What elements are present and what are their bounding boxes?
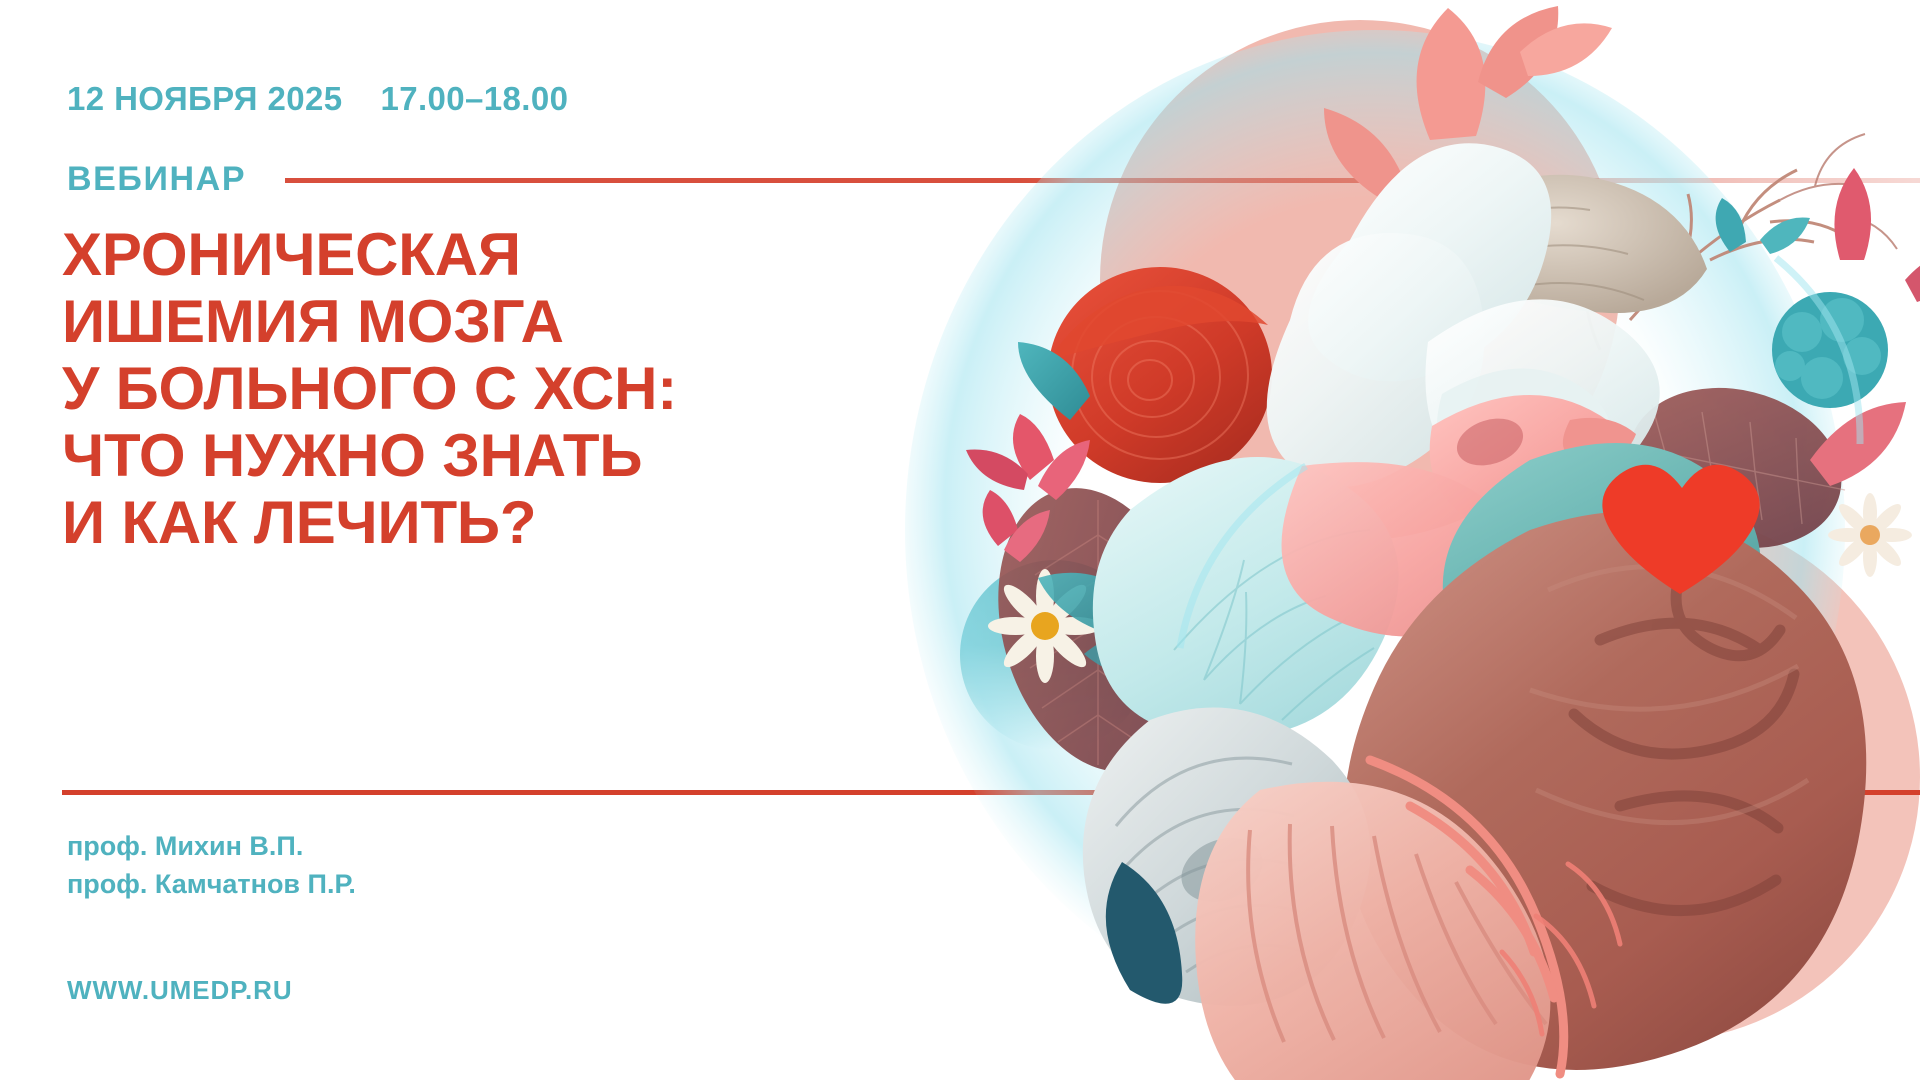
webinar-poster: 12 НОЯБРЯ 2025 17.00–18.00 ВЕБИНАР ХРОНИ… <box>0 0 1920 1080</box>
website-url[interactable]: WWW.UMEDP.RU <box>67 975 293 1006</box>
headline-line-5: И КАК ЛЕЧИТЬ? <box>62 490 677 557</box>
headline-line-3: У БОЛЬНОГО С ХСН: <box>62 356 677 423</box>
event-time: 17.00–18.00 <box>380 80 568 118</box>
headline-line-2: ИШЕМИЯ МОЗГА <box>62 289 677 356</box>
poster-text-content: 12 НОЯБРЯ 2025 17.00–18.00 ВЕБИНАР ХРОНИ… <box>62 0 922 1080</box>
event-type-kicker: ВЕБИНАР <box>67 160 246 199</box>
event-datetime: 12 НОЯБРЯ 2025 17.00–18.00 <box>67 80 568 118</box>
heart-brain-floral-illustration <box>830 0 1920 1080</box>
speaker-2: проф. Камчатнов П.Р. <box>67 865 356 903</box>
event-date: 12 НОЯБРЯ 2025 <box>67 80 342 118</box>
speaker-1: проф. Михин В.П. <box>67 827 356 865</box>
speaker-list: проф. Михин В.П. проф. Камчатнов П.Р. <box>67 827 356 904</box>
headline-line-4: ЧТО НУЖНО ЗНАТЬ <box>62 423 677 490</box>
headline-line-1: ХРОНИЧЕСКАЯ <box>62 222 677 289</box>
page-title: ХРОНИЧЕСКАЯ ИШЕМИЯ МОЗГА У БОЛЬНОГО С ХС… <box>62 222 677 556</box>
